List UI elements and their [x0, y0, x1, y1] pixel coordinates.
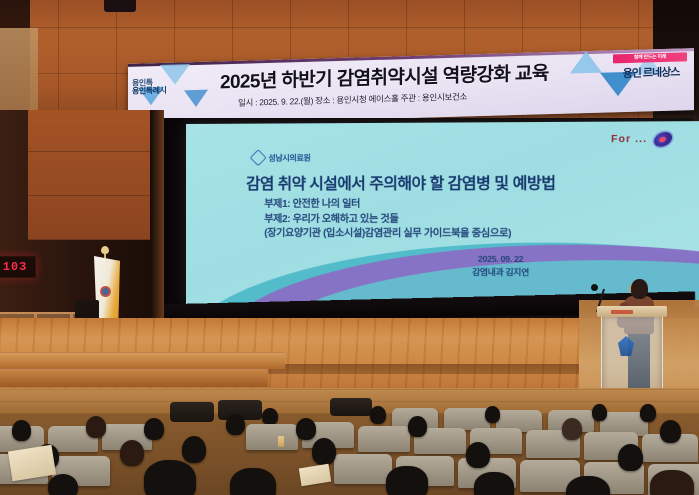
audience-head — [182, 436, 206, 463]
audience-head — [640, 404, 656, 422]
renaissance-wordmark: 용인 르네상스 — [613, 63, 689, 81]
slide-sub-2: 부제2: 우리가 오해하고 있는 것들 — [264, 212, 678, 227]
slide-presenter: 감염내과 김지연 — [382, 265, 621, 279]
presentation-slide: For ... 성남시의료원 감염 취약 시설에서 주의해야 할 감염병 및 예… — [186, 121, 699, 307]
audience-area — [0, 388, 699, 495]
audience-head — [296, 418, 316, 440]
audience-head — [466, 442, 490, 468]
drink-cup — [278, 436, 284, 447]
renaissance-tagline: 함께 만드는 미래 — [613, 52, 687, 63]
handout-paper — [299, 464, 331, 486]
podium — [601, 312, 663, 396]
audience-head — [386, 466, 428, 495]
audience-head — [485, 406, 500, 423]
stage-step-lower — [0, 368, 268, 387]
exit-sign: 103 — [0, 256, 36, 278]
audience-head — [48, 474, 78, 495]
audience-head — [592, 404, 607, 421]
audience-head — [120, 440, 144, 466]
seat — [330, 398, 372, 416]
seat — [170, 402, 214, 422]
audience-head — [370, 406, 386, 424]
auditorium-photo: 용인특 용인특례시 2025년 하반기 감염취약시설 역량강화 교육 일시 : … — [0, 0, 699, 495]
audience-head — [262, 408, 278, 425]
audience-head — [312, 438, 336, 465]
stage-step-upper — [0, 352, 285, 369]
audience-head — [650, 470, 694, 495]
seat — [334, 454, 392, 484]
seat — [444, 408, 490, 430]
wall-light-strip — [0, 28, 38, 120]
slide-date: 2025. 09. 22 — [382, 252, 621, 266]
seat — [358, 426, 410, 452]
audience-head — [230, 468, 276, 495]
audience-head — [562, 418, 582, 440]
slide-footer: 2025. 09. 22 감염내과 김지연 — [382, 252, 621, 279]
slide-subtitles: 부제1: 안전한 나의 일터 부제2: 우리가 오해하고 있는 것들 (장기요양… — [264, 198, 678, 243]
ceiling-speaker-box — [104, 0, 136, 12]
audience-head — [226, 414, 245, 435]
audience-head — [618, 444, 643, 471]
audience-head — [474, 472, 514, 495]
audience-head — [86, 416, 106, 438]
flag-finial-icon — [101, 246, 109, 254]
audience-head — [660, 420, 681, 443]
slide-oval-logo-icon — [651, 129, 674, 150]
microphone-head-icon — [591, 284, 598, 291]
seat — [246, 424, 298, 450]
slide-org-row: 성남시의료원 — [252, 152, 310, 164]
slide-for-label: For ... — [611, 134, 647, 145]
slide-org-name: 성남시의료원 — [268, 152, 310, 163]
left-wall-panel — [28, 110, 158, 240]
audience-head — [144, 418, 164, 440]
handout-paper — [8, 445, 56, 482]
screen-left-edge — [150, 110, 164, 320]
audience-head — [408, 416, 427, 437]
slide-sub-1: 부제1: 안전한 나의 일터 — [264, 198, 678, 213]
slide-title: 감염 취약 시설에서 주의해야 할 감염병 및 예방법 — [246, 171, 659, 194]
audience-head — [144, 460, 196, 495]
presenter-head — [631, 279, 648, 299]
yongin-renaissance-logo: 함께 만드는 미래 용인 르네상스 — [613, 52, 689, 88]
audience-head — [12, 420, 31, 441]
podium-desktop — [597, 306, 667, 317]
diamond-logo-icon — [250, 149, 267, 166]
slide-sub-3: (장기요양기관 (입소시설)감염관리 실무 가이드북을 중심으로) — [264, 227, 678, 242]
